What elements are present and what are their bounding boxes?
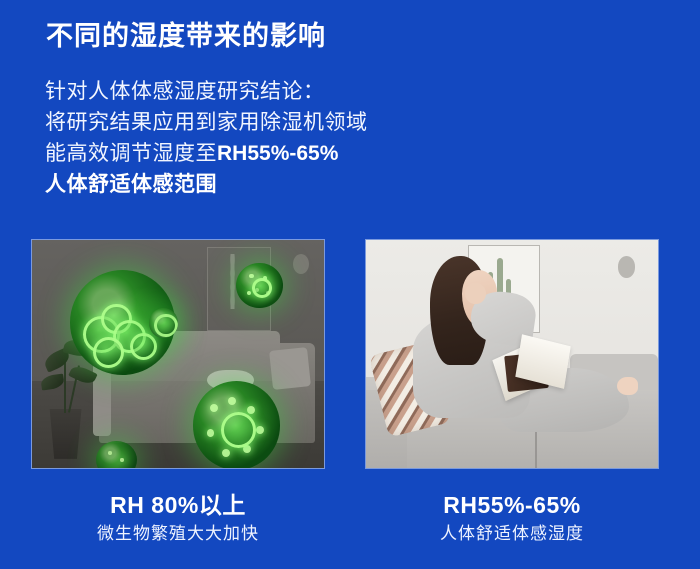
caption-high-humidity: RH 80%以上 微生物繁殖大大加快 [31,489,325,547]
woman-foot [617,377,637,395]
caption-sub-high-humidity: 微生物繁殖大大加快 [31,521,325,547]
comparison-panels [0,239,700,469]
panel-captions: RH 80%以上 微生物繁殖大大加快 RH55%-65% 人体舒适体感湿度 [0,489,700,569]
intro-line-2: 将研究结果应用到家用除湿机领域 [45,107,525,138]
caption-comfort-humidity: RH55%-65% 人体舒适体感湿度 [365,489,659,547]
bright-room-scene [366,240,658,468]
humidity-comparison-poster: 不同的湿度带来的影响 针对人体体感湿度研究结论： 将研究结果应用到家用除湿机领域… [0,0,700,569]
dark-room-scene [32,240,324,468]
panel-comfort-humidity-image [365,239,659,469]
caption-title-comfort-humidity: RH55%-65% [365,489,659,521]
intro-line-3: 能高效调节湿度至RH55%-65% [45,138,525,169]
intro-line-4: 人体舒适体感范围 [45,169,525,200]
intro-line-3-highlight: RH55%-65% [217,142,338,165]
caption-title-high-humidity: RH 80%以上 [31,489,325,521]
microbe-cluster-icon [236,263,283,309]
wall-speaker [618,256,635,278]
caption-sub-comfort-humidity: 人体舒适体感湿度 [365,521,659,547]
page-title: 不同的湿度带来的影响 [46,18,326,54]
intro-line-3-prefix: 能高效调节湿度至 [45,142,217,165]
intro-line-1: 针对人体体感湿度研究结论： [45,76,525,107]
intro-paragraph: 针对人体体感湿度研究结论： 将研究结果应用到家用除湿机领域 能高效调节湿度至RH… [45,76,525,200]
sofa-cushion [270,348,312,391]
woman-hand [465,283,485,304]
microbe-cluster-icon [149,308,178,338]
microbe-cluster-icon [193,381,281,468]
microbe-room-photo [32,240,324,468]
panel-high-humidity-image [31,239,325,469]
woman-reading-photo [366,240,658,468]
